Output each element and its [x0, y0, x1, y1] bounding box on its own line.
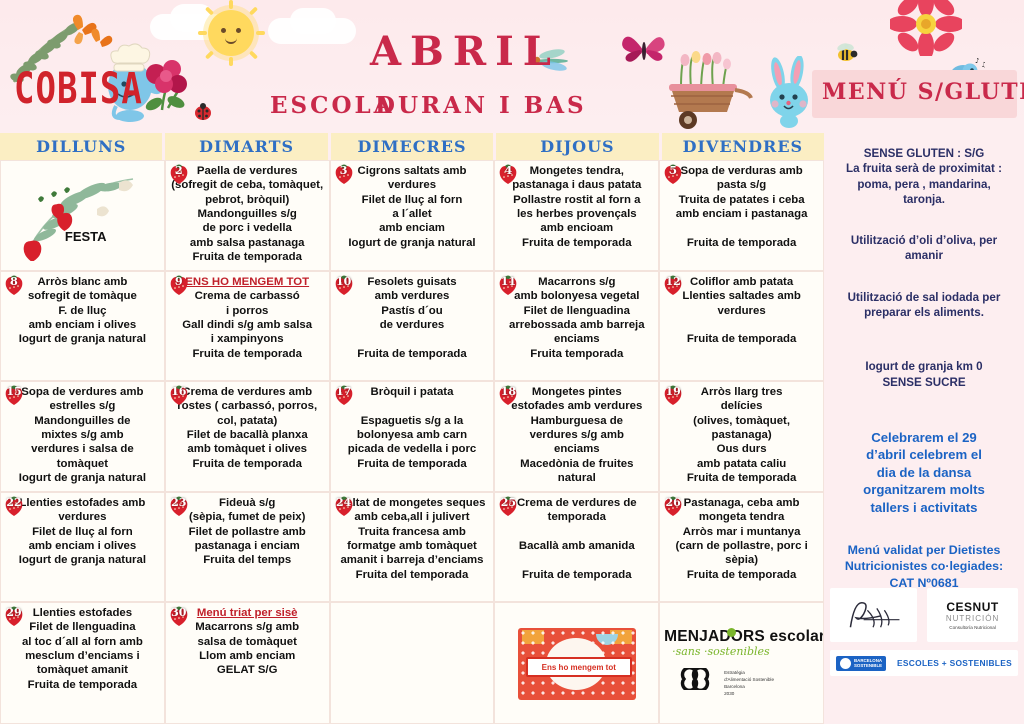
menu-text: Menú triat per sisèMacarrons s/g amb sal… — [169, 605, 326, 678]
ens-ho-mengem-tot-logo: Ens ho mengem tot — [518, 628, 636, 700]
menu-text: Sopa de verdures amb estrelles s/g Mando… — [4, 384, 161, 486]
menu-text: Arròs llarg tres delícies (olives, tomàq… — [663, 384, 820, 486]
bee-icon — [832, 42, 858, 64]
menu-poster: ♪♫ COBISA ABRIL ESCOLA DURAN I BAS MENÚ … — [0, 0, 1024, 724]
menjadors-title: MENJADORS escolars — [664, 628, 824, 646]
day-number-badge: 23 — [168, 495, 190, 517]
day-number: 24 — [333, 496, 355, 509]
note-line: Nutricionistes co·legiades: — [830, 558, 1018, 574]
day-number: 10 — [333, 275, 355, 288]
calendar-cell-day-4: 4Mongetes tendra, pastanaga i daus patat… — [494, 160, 659, 271]
day-number: 30 — [168, 606, 190, 619]
day-number: 16 — [168, 385, 190, 398]
bouquet-icon — [140, 56, 192, 112]
day-header-dijous: DIJOUS — [496, 133, 661, 160]
calendar-cell-day-24: 24Saltat de mongetes seques amb ceba,all… — [330, 492, 495, 602]
menu-text: Fesolets guisats amb verdures Pastís d´o… — [334, 274, 491, 361]
day-number: 19 — [662, 385, 684, 398]
menu-text: Crema de verdures de temporada Bacallà a… — [498, 495, 655, 582]
calendar-cell-day-8: 8Arròs blanc amb sofregit de tomàque F. … — [0, 271, 165, 381]
day-number-badge: 29 — [3, 605, 25, 627]
menjadors-strategy-text: Estratègia d'Alimentació Sostenible Barc… — [724, 670, 774, 698]
calendar-cell-day-11: 11Macarrons s/g amb bolonyesa vegetal Fi… — [494, 271, 659, 381]
day-number: 25 — [497, 496, 519, 509]
menu-highlight: Menú triat per sisè — [169, 606, 326, 620]
day-number-badge: 30 — [168, 605, 190, 627]
gluten-free-banner: MENÚ S/GLUTEN — [812, 70, 1017, 118]
menu-text: Fideuà s/g (sèpia, fumet de peix) Filet … — [169, 495, 326, 568]
infinity-icon — [672, 668, 718, 690]
gluten-free-banner-label: MENÚ S/GLUTEN — [822, 79, 1024, 105]
menjadors-subtitle: ·sans ·sostenibles — [672, 645, 770, 658]
barcelona-sostenible-label: BARCELONA SOSTENIBLE — [854, 658, 882, 669]
menjadors-escolars-logo: MENJADORS escolars·sans ·sosteniblesEstr… — [664, 626, 819, 702]
day-number-badge: 12 — [662, 274, 684, 296]
note-line: dia de la dansa — [830, 464, 1018, 481]
calendar-cell-day-30: 30Menú triat per sisèMacarrons s/g amb s… — [165, 602, 330, 724]
note-line: organitzarem molts — [830, 481, 1018, 498]
day-number-badge: 17 — [333, 384, 355, 406]
month-title: ABRIL — [370, 28, 560, 75]
day-number: 15 — [3, 385, 25, 398]
day-number: 2 — [168, 164, 190, 177]
day-number-badge: 22 — [3, 495, 25, 517]
festa-label: FESTA — [65, 229, 107, 244]
note-line: Iogurt de granja km 0 — [830, 359, 1018, 374]
menu-text: Crema de verdures amb rostes ( carbassó,… — [169, 384, 326, 471]
menu-text: Sopa de verduras amb pasta s/g Truita de… — [663, 163, 820, 250]
calendar-cell-day-18: 18Mongetes pintes estofades amb verdures… — [494, 381, 659, 492]
day-number: 9 — [168, 275, 190, 288]
ladybug-icon — [193, 103, 213, 120]
note-line: SENSE SUCRE — [830, 375, 1018, 390]
calendar-cell-day-26: 26Pastanaga, ceba amb mongeta tendra Arr… — [659, 492, 824, 602]
day-header-dimecres: DIMECRES — [331, 133, 496, 160]
day-number-badge: 15 — [3, 384, 25, 406]
day-number-badge: 18 — [497, 384, 519, 406]
calendar-cell-day-25: 25Crema de verdures de temporada Bacallà… — [494, 492, 659, 602]
poster-header: ♪♫ COBISA ABRIL ESCOLA DURAN I BAS MENÚ … — [0, 0, 1024, 133]
calendar-grid: FESTA2Paella de verdures (sofregit de ce… — [0, 160, 824, 724]
day-number-badge: 25 — [497, 495, 519, 517]
cesnut-sub: NUTRICIÓN — [946, 614, 999, 623]
day-number-badge: 11 — [497, 274, 519, 296]
note-line: amanir — [830, 248, 1018, 263]
menu-text: Llenties estofades Filet de llenguadina … — [4, 605, 161, 692]
note-line: taronja. — [830, 192, 1018, 207]
escoles-sostenibles-label: ESCOLES + SOSTENIBLES — [897, 658, 1012, 668]
menu-text: Bròquil i patata Espaguetis s/g a la bol… — [334, 384, 491, 471]
menu-text: Arròs blanc amb sofregit de tomàque F. d… — [4, 274, 161, 347]
menu-highlight: ENS HO MENGEM TOT — [169, 275, 326, 289]
day-number: 11 — [497, 275, 519, 288]
ens-ho-mengem-tot-label: Ens ho mengem tot — [542, 663, 616, 672]
day-header-label: DIJOUS — [540, 137, 614, 156]
menu-text: Mongetes tendra, pastanaga i daus patata… — [498, 163, 655, 250]
day-number: 4 — [497, 164, 519, 177]
sun-icon — [208, 10, 254, 56]
note-line: tallers i activitats — [830, 499, 1018, 516]
day-header-label: DIMECRES — [357, 137, 466, 156]
menu-text: ENS HO MENGEM TOTCrema de carbassó i por… — [169, 274, 326, 361]
menu-calendar: DILLUNS DIMARTS DIMECRES DIJOUS DIVENDRE… — [0, 133, 824, 724]
strawberry-branch-icon — [15, 169, 145, 261]
menu-text: Saltat de mongetes seques amb ceba,all i… — [334, 495, 491, 582]
day-number-badge: 16 — [168, 384, 190, 406]
escoles-sostenibles-bar: BARCELONA SOSTENIBLE ESCOLES + SOSTENIBL… — [830, 650, 1018, 676]
day-header-label: DIVENDRES — [683, 137, 804, 156]
cesnut-name: CESNUT — [946, 600, 998, 614]
calendar-cell-day-12: 12Coliflor amb patata Llenties saltades … — [659, 271, 824, 381]
calendar-cell-day-15: 15Sopa de verdures amb estrelles s/g Man… — [0, 381, 165, 492]
calendar-cell-day-23: 23Fideuà s/g (sèpia, fumet de peix) File… — [165, 492, 330, 602]
menu-text: Paella de verdures (sofregit de ceba, to… — [169, 163, 326, 265]
day-number: 23 — [168, 496, 190, 509]
calendar-cell-day-22: 22Llenties estofades amb verdures Filet … — [0, 492, 165, 602]
day-number-badge: 4 — [497, 163, 519, 185]
calendar-cell-day-19: 19Arròs llarg tres delícies (olives, tom… — [659, 381, 824, 492]
day-number-badge: 19 — [662, 384, 684, 406]
calendar-cell-day-3: 3Cigrons saltats amb verdures Filet de l… — [330, 160, 495, 271]
day-number-badge: 10 — [333, 274, 355, 296]
calendar-cell-day-16: 16Crema de verdures amb rostes ( carbass… — [165, 381, 330, 492]
certification-logos: CESNUT NUTRICIÓN Consultoría Nutricional… — [830, 588, 1018, 676]
day-header-row: DILLUNS DIMARTS DIMECRES DIJOUS DIVENDRE… — [0, 133, 824, 160]
calendar-cell-festa: FESTA — [0, 160, 165, 271]
note-line: d’abril celebrem el — [830, 446, 1018, 463]
note-line: Celebrarem el 29 — [830, 429, 1018, 446]
day-number-badge: 26 — [662, 495, 684, 517]
calendar-cell-day-5: 5Sopa de verduras amb pasta s/g Truita d… — [659, 160, 824, 271]
cesnut-tagline: Consultoría Nutricional — [949, 625, 995, 630]
note-line: poma, pera , mandarina, — [830, 177, 1018, 192]
menu-text: Mongetes pintes estofades amb verdures H… — [498, 384, 655, 486]
note-line: SENSE GLUTEN : S/G — [830, 146, 1018, 161]
day-number-badge: 5 — [662, 163, 684, 185]
day-header-dilluns: DILLUNS — [0, 133, 165, 160]
note-line: Utilització de sal iodada per — [830, 290, 1018, 305]
calendar-cell-day-2: 2Paella de verdures (sofregit de ceba, t… — [165, 160, 330, 271]
day-header-divendres: DIVENDRES — [662, 133, 824, 160]
menu-text: Cigrons saltats amb verdures Filet de ll… — [334, 163, 491, 250]
day-number-badge: 3 — [333, 163, 355, 185]
day-number: 18 — [497, 385, 519, 398]
day-header-label: DIMARTS — [199, 137, 294, 156]
calendar-cell-day-29: 29Llenties estofades Filet de llenguadin… — [0, 602, 165, 724]
menu-text: Macarrons s/g amb bolonyesa vegetal File… — [498, 274, 655, 361]
day-number: 26 — [662, 496, 684, 509]
day-number: 5 — [662, 164, 684, 177]
dietitian-signature-logo — [830, 588, 917, 642]
day-number-badge: 24 — [333, 495, 355, 517]
day-number: 8 — [3, 275, 25, 288]
flower-icon — [890, 0, 962, 56]
svg-text:♫: ♫ — [981, 61, 985, 69]
menu-text: Llenties estofades amb verdures Filet de… — [4, 495, 161, 568]
calendar-cell-logo-menjadors: MENJADORS escolars·sans ·sosteniblesEstr… — [659, 602, 824, 724]
calendar-cell-day-9: 9ENS HO MENGEM TOTCrema de carbassó i po… — [165, 271, 330, 381]
calendar-cell-logo-ens-ho-mengem-tot: Ens ho mengem tot — [494, 602, 659, 724]
note-line: La fruita serà de proximitat : — [830, 161, 1018, 176]
day-number: 12 — [662, 275, 684, 288]
day-number: 3 — [333, 164, 355, 177]
day-number: 17 — [333, 385, 355, 398]
wheelbarrow-flowers-icon — [655, 44, 760, 130]
day-number-badge: 9 — [168, 274, 190, 296]
note-line: Utilització d’oli d’oliva, per — [830, 233, 1018, 248]
side-notes-panel: SENSE GLUTEN : S/G La fruita serà de pro… — [824, 133, 1024, 724]
calendar-cell-day-10: 10Fesolets guisats amb verdures Pastís d… — [330, 271, 495, 381]
barcelona-sostenible-icon: BARCELONA SOSTENIBLE — [836, 656, 886, 671]
day-header-dimarts: DIMARTS — [165, 133, 330, 160]
note-line: preparar els aliments. — [830, 305, 1018, 320]
menu-text: Pastanaga, ceba amb mongeta tendra Arròs… — [663, 495, 820, 582]
cesnut-logo: CESNUT NUTRICIÓN Consultoría Nutricional — [927, 588, 1018, 642]
menu-text: Coliflor amb patata Llenties saltades am… — [663, 274, 820, 347]
school-name: DURAN I BAS — [375, 92, 587, 119]
day-number: 29 — [3, 606, 25, 619]
cloud-icon — [290, 8, 336, 34]
day-header-label: DILLUNS — [36, 137, 126, 156]
calendar-cell-decoration — [330, 602, 495, 724]
note-line: Menú validat per Dietistes — [830, 542, 1018, 558]
day-number-badge: 2 — [168, 163, 190, 185]
brand-logo-text: COBISA — [14, 64, 143, 114]
day-number: 22 — [3, 496, 25, 509]
svg-text:♪: ♪ — [975, 58, 979, 65]
calendar-cell-day-17: 17Bròquil i patata Espaguetis s/g a la b… — [330, 381, 495, 492]
day-number-badge: 8 — [3, 274, 25, 296]
